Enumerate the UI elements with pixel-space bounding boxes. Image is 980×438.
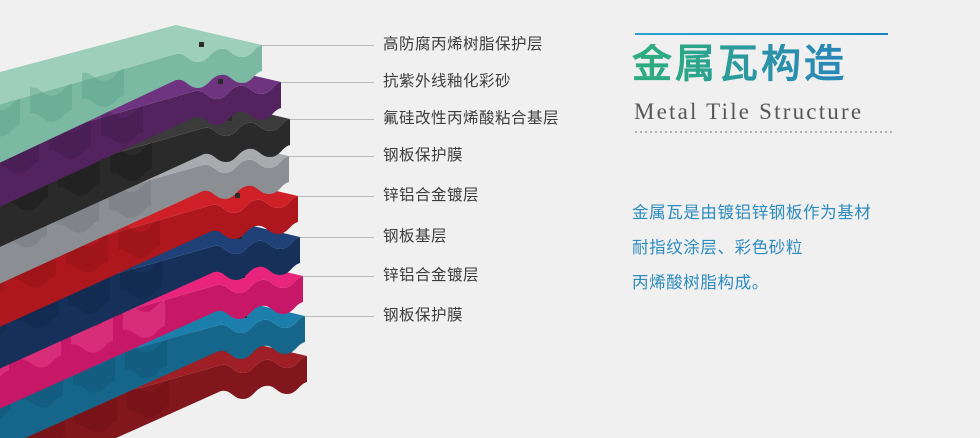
leader-line-4: [289, 156, 374, 157]
title-dotted-rule: [635, 131, 895, 133]
description-line-2: 耐指纹涂层、彩色砂粒: [632, 231, 977, 266]
page-title-en: Metal Tile Structure: [634, 100, 863, 123]
description-line-1: 金属瓦是由镀铝锌钢板作为基材: [632, 196, 977, 231]
heading-panel: 金属瓦构造 Metal Tile Structure 金属瓦是由镀铝锌钢板作为基…: [630, 0, 980, 438]
metal-tile-layer-illustration: [0, 0, 370, 438]
leader-line-2: [281, 82, 374, 83]
layer-marker-1: [199, 42, 204, 47]
layer-label-2: 抗紫外线釉化彩砂: [383, 74, 511, 90]
leader-line-5: [298, 196, 374, 197]
layer-marker-2: [218, 79, 223, 84]
leader-line-1: [262, 45, 374, 46]
layer-label-1: 高防腐丙烯树脂保护层: [383, 37, 543, 53]
layer-marker-5: [235, 193, 240, 198]
title-top-rule: [635, 33, 888, 35]
leader-line-7: [303, 276, 374, 277]
layer-label-5: 锌铝合金镀层: [383, 188, 479, 204]
leader-line-8: [305, 316, 374, 317]
layer-label-7: 锌铝合金镀层: [383, 268, 479, 284]
metal-tile-structure-infographic: 高防腐丙烯树脂保护层 抗紫外线釉化彩砂 氟硅改性丙烯酸粘合基层 钢板保护膜 锌铝…: [0, 0, 980, 438]
description-line-3: 丙烯酸树脂构成。: [632, 266, 977, 301]
leader-line-6: [300, 237, 374, 238]
tile-stack-svg: [0, 0, 370, 438]
layer-label-3: 氟硅改性丙烯酸粘合基层: [383, 111, 559, 127]
layer-label-8: 钢板保护膜: [383, 308, 463, 324]
page-title-cn: 金属瓦构造: [632, 44, 847, 84]
layer-label-6: 钢板基层: [383, 229, 447, 245]
layer-label-4: 钢板保护膜: [383, 148, 463, 164]
leader-line-3: [290, 119, 374, 120]
description-text: 金属瓦是由镀铝锌钢板作为基材 耐指纹涂层、彩色砂粒 丙烯酸树脂构成。: [632, 196, 977, 301]
